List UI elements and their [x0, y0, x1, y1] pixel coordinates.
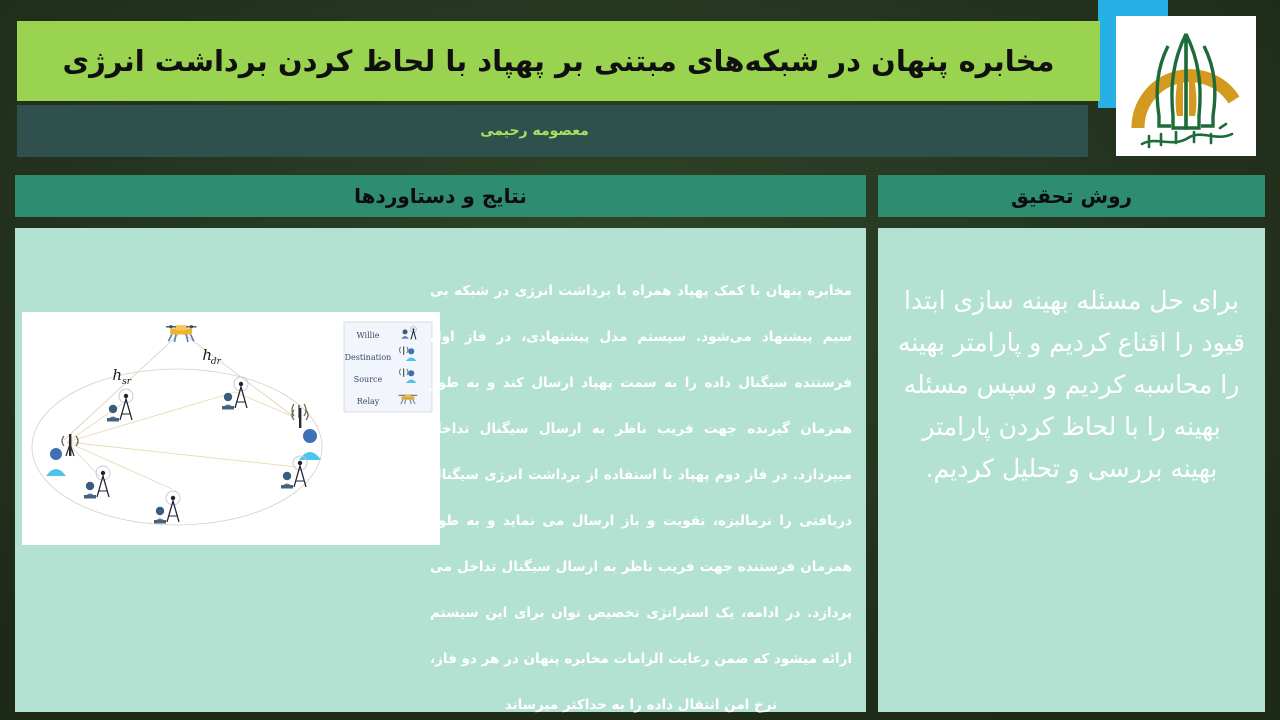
svg-text:Source: Source	[354, 375, 383, 384]
uav-network-diagram: h dr h sr	[22, 312, 440, 545]
author-name: معصومه رحیمی	[480, 123, 589, 139]
label-h-sr: h	[112, 366, 122, 384]
figure-legend: Willie Destination	[344, 322, 432, 412]
section-header-method-label: روش تحقیق	[1011, 184, 1132, 208]
section-header-results-label: نتایج و دستاوردها	[354, 184, 527, 208]
svg-text:dr: dr	[211, 357, 222, 367]
poster-root: مخابره پنهان در شبکه‌های مبتنی بر پهپاد …	[0, 0, 1280, 720]
svg-text:Relay: Relay	[357, 397, 380, 406]
section-header-results: نتایج و دستاوردها	[15, 175, 866, 217]
panel-results: h dr h sr	[15, 228, 866, 712]
section-header-method: روش تحقیق	[878, 175, 1265, 217]
svg-text:Destination: Destination	[345, 353, 392, 362]
results-body-text: مخابره پنهان با کمک پهپاد همراه با برداش…	[430, 268, 852, 720]
svg-text:sr: sr	[122, 377, 132, 387]
poster-title: مخابره پنهان در شبکه‌های مبتنی بر پهپاد …	[63, 43, 1055, 79]
method-body-text: برای حل مسئله بهینه سازی ابتدا قیود را ا…	[896, 280, 1247, 490]
svg-text:Willie: Willie	[356, 331, 379, 340]
poster-title-band: مخابره پنهان در شبکه‌های مبتنی بر پهپاد …	[17, 21, 1100, 101]
panel-method: برای حل مسئله بهینه سازی ابتدا قیود را ا…	[878, 228, 1265, 712]
author-band: معصومه رحیمی	[17, 105, 1088, 157]
university-logo	[1116, 16, 1256, 156]
